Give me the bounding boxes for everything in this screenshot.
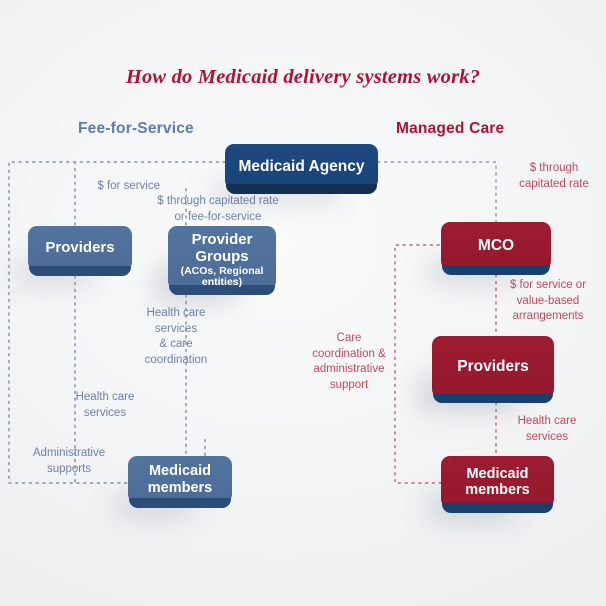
- node-medicaid-members-right[interactable]: Medicaid members: [441, 456, 554, 508]
- annotation-health-care-services-right: Health care services: [498, 414, 596, 445]
- annotation-dollar-for-service-or-value-based: $ for service or value-based arrangement…: [492, 278, 604, 325]
- diagram-canvas: How do Medicaid delivery systems work? F…: [0, 0, 606, 606]
- node-providers-right-label: Providers: [457, 358, 529, 375]
- node-medicaid-agency-label: Medicaid Agency: [238, 158, 364, 175]
- annotation-health-care-services-and-care-coordination: Health care services & care coordination: [128, 306, 224, 368]
- node-provider-groups[interactable]: Provider Groups (ACOs, Regional entities…: [168, 226, 276, 290]
- annotation-dollar-through-capitated-rate: $ through capitated rate: [505, 161, 603, 192]
- column-heading-managed-care: Managed Care: [396, 120, 504, 138]
- node-provider-groups-label: Provider Groups: [192, 232, 253, 266]
- column-heading-fee-for-service: Fee-for-Service: [78, 120, 194, 138]
- node-mco[interactable]: MCO: [441, 222, 551, 270]
- node-providers-right[interactable]: Providers: [432, 336, 554, 398]
- node-provider-groups-sublabel: (ACOs, Regional entities): [181, 266, 264, 290]
- annotation-dollar-for-service: $ for service: [2, 179, 160, 195]
- node-medicaid-members-right-label: Medicaid members: [465, 466, 529, 498]
- node-medicaid-agency[interactable]: Medicaid Agency: [225, 144, 378, 189]
- annotation-health-care-services-left: Health care services: [50, 390, 160, 421]
- node-providers-left[interactable]: Providers: [28, 226, 132, 271]
- annotation-care-coordination-and-administrative-support: Care coordination & administrative suppo…: [292, 331, 406, 393]
- node-medicaid-members-left-label: Medicaid members: [148, 463, 212, 495]
- annotation-dollar-capitated-or-ffs: $ through capitated rate or fee-for-serv…: [150, 194, 286, 225]
- node-providers-left-label: Providers: [45, 240, 114, 257]
- node-mco-label: MCO: [478, 237, 514, 254]
- page-title: How do Medicaid delivery systems work?: [0, 66, 606, 89]
- node-medicaid-members-left[interactable]: Medicaid members: [128, 456, 232, 503]
- annotation-administrative-supports: Administrative supports: [14, 446, 124, 477]
